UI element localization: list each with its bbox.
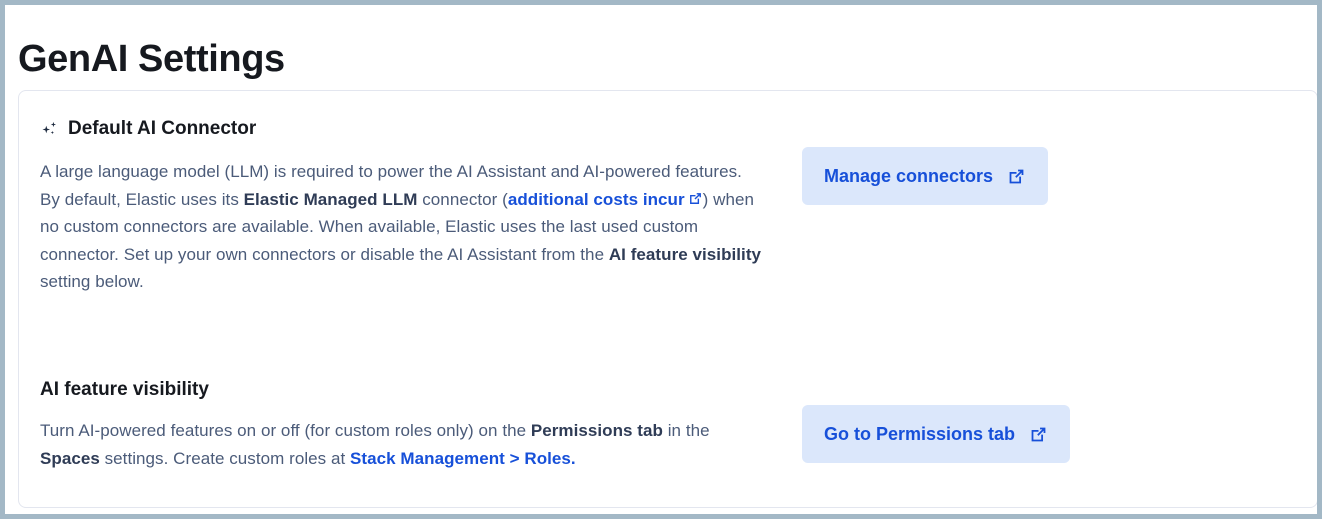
visibility-desc-part2: in the [663,421,710,440]
external-link-icon [688,191,703,206]
page-title: GenAI Settings [18,35,285,83]
external-link-icon [1029,425,1048,444]
additional-costs-link[interactable]: additional costs incur [508,190,703,209]
stack-management-roles-link[interactable]: Stack Management > Roles. [350,449,576,468]
visibility-description: Turn AI-powered features on or off (for … [40,417,770,472]
sparkles-icon [40,120,59,139]
genai-settings-screen: GenAI Settings Default AI Connector [0,0,1322,519]
visibility-desc-part1: Turn AI-powered features on or off (for … [40,421,531,440]
manage-connectors-label: Manage connectors [824,165,993,187]
connector-heading: Default AI Connector [40,116,256,142]
connector-desc-part4: setting below. [40,272,144,291]
external-link-icon [1007,167,1026,186]
go-to-permissions-tab-label: Go to Permissions tab [824,423,1015,445]
connector-desc-bold1: Elastic Managed LLM [244,190,418,209]
go-to-permissions-tab-button[interactable]: Go to Permissions tab [802,405,1070,463]
visibility-heading-label: AI feature visibility [40,377,209,403]
visibility-heading: AI feature visibility [40,377,209,403]
connector-desc-part2: connector ( [417,190,507,209]
manage-connectors-button[interactable]: Manage connectors [802,147,1048,205]
connector-description: A large language model (LLM) is required… [40,158,765,296]
visibility-desc-bold2: Spaces [40,449,100,468]
additional-costs-link-label: additional costs incur [508,190,685,209]
connector-desc-bold2: AI feature visibility [609,245,761,264]
connector-heading-label: Default AI Connector [68,116,256,142]
visibility-desc-bold1: Permissions tab [531,421,663,440]
visibility-desc-part3: settings. Create custom roles at [100,449,350,468]
settings-panel: Default AI Connector A large language mo… [18,90,1318,508]
